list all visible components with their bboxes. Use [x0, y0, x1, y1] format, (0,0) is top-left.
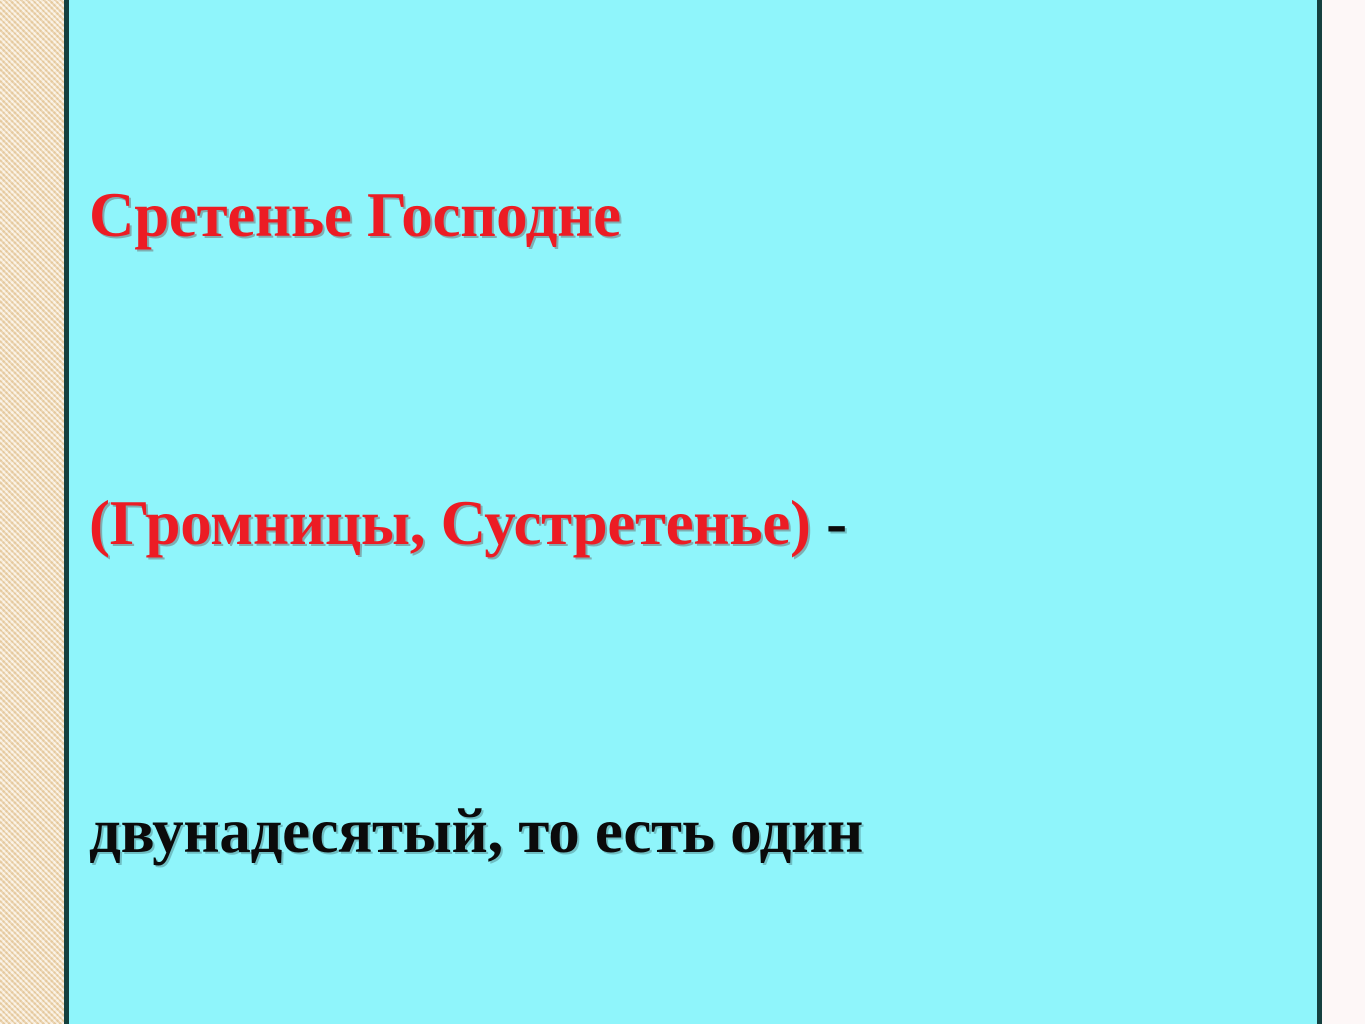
- body-line-dvunadesyatyi: двунадесятый, то есть один: [89, 793, 1289, 870]
- body-text-line-1: двунадесятый, то есть один: [89, 796, 863, 866]
- title-text-red: Сретенье Господне: [89, 180, 621, 250]
- slide-text-body: Сретенье Господне (Громницы, Сустретенье…: [89, 0, 1289, 1024]
- subtitle-text-red: (Громницы, Сустретенье): [89, 488, 811, 558]
- subtitle-line-gromnitsy: (Громницы, Сустретенье) -: [89, 485, 1289, 562]
- right-margin-area: [1322, 0, 1365, 1024]
- slide-content-panel: Сретенье Господне (Громницы, Сустретенье…: [69, 0, 1317, 1024]
- subtitle-dash-black: -: [811, 488, 847, 558]
- left-decorative-strip: [0, 0, 64, 1024]
- presentation-slide: Сретенье Господне (Громницы, Сустретенье…: [0, 0, 1365, 1024]
- title-line-sretenie: Сретенье Господне: [89, 177, 1289, 254]
